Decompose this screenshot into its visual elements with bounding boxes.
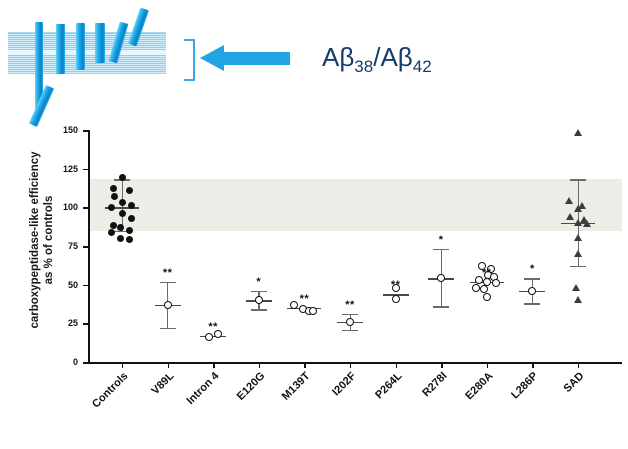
y-axis-tick-label: 150 [56, 125, 78, 135]
significance-marker: ** [382, 279, 410, 291]
x-axis-tick [259, 363, 260, 368]
data-point-filled [119, 210, 126, 217]
y-axis-label: carboxypeptidase-like efficiency as % of… [28, 125, 56, 355]
data-point-triangle [574, 296, 582, 303]
y-axis-tick [83, 169, 88, 171]
data-point-filled [108, 229, 115, 236]
significance-marker: ** [199, 321, 227, 333]
error-bar-cap [251, 309, 267, 310]
x-axis-tick [396, 363, 397, 368]
data-point-filled [111, 193, 118, 200]
data-point-filled [108, 204, 115, 211]
data-point-open [255, 296, 263, 304]
data-point-open [392, 295, 400, 303]
data-point-filled [119, 199, 126, 206]
error-bar-cap [251, 291, 267, 292]
error-bar-cap [524, 278, 540, 279]
y-axis-tick-label: 50 [56, 280, 78, 290]
data-point-triangle [574, 234, 582, 241]
data-point-open [205, 333, 213, 341]
y-axis-tick-label: 75 [56, 241, 78, 251]
data-point-triangle [583, 220, 591, 227]
x-axis-tick [350, 363, 351, 368]
error-bar-cap [524, 303, 540, 304]
data-point-open [309, 307, 317, 315]
x-axis-tick [213, 363, 214, 368]
data-point-filled [117, 224, 124, 231]
x-axis-tick [168, 363, 169, 368]
data-point-filled [126, 187, 133, 194]
y-axis-tick [83, 207, 88, 209]
data-point-filled [119, 174, 126, 181]
significance-marker: * [518, 263, 546, 275]
figure-panel: Aβ38/Aβ42 carboxypeptidase-like efficien… [0, 0, 628, 447]
significance-marker: ** [473, 267, 501, 279]
data-point-filled [128, 202, 135, 209]
y-axis-tick [83, 246, 88, 248]
y-axis-tick-label: 125 [56, 164, 78, 174]
x-axis-tick [487, 363, 488, 368]
y-axis-tick [83, 323, 88, 325]
control-reference-band [88, 179, 622, 230]
error-bar-cap [342, 314, 358, 315]
error-bar-cap [160, 328, 176, 329]
significance-marker: ** [336, 299, 364, 311]
scatter-plot: carboxypeptidase-like efficiency as % of… [0, 0, 628, 447]
data-point-triangle [574, 129, 582, 136]
y-axis-tick-label: 25 [56, 318, 78, 328]
y-axis-tick-label: 0 [56, 357, 78, 367]
data-point-triangle [574, 250, 582, 257]
data-point-triangle [574, 219, 582, 226]
y-axis-label-line2: as % of controls [43, 196, 55, 285]
error-bar-cap [160, 282, 176, 283]
significance-marker: * [245, 276, 273, 288]
x-axis-tick [304, 363, 305, 368]
y-axis-tick [83, 285, 88, 287]
significance-marker: ** [290, 293, 318, 305]
y-axis-line [88, 130, 90, 364]
y-axis-tick [83, 130, 88, 132]
y-axis-tick [83, 362, 88, 364]
data-point-filled [126, 236, 133, 243]
x-axis-tick [578, 363, 579, 368]
group-mean-line [200, 336, 226, 338]
x-axis-tick [532, 363, 533, 368]
data-point-filled [117, 235, 124, 242]
x-axis-label-controls: Controls [51, 370, 130, 449]
data-point-open [483, 293, 491, 301]
data-point-triangle [565, 197, 573, 204]
significance-marker: ** [154, 267, 182, 279]
data-point-open [164, 301, 172, 309]
data-point-triangle [572, 284, 580, 291]
data-point-filled [126, 227, 133, 234]
data-point-open [528, 287, 536, 295]
significance-marker: * [427, 234, 455, 246]
data-point-filled [110, 185, 117, 192]
error-bar-cap [342, 330, 358, 331]
y-axis-label-line1: carboxypeptidase-like efficiency [29, 151, 41, 328]
error-bar-cap [570, 179, 586, 180]
error-bar-cap [433, 249, 449, 250]
data-point-filled [128, 215, 135, 222]
y-axis-tick-label: 100 [56, 202, 78, 212]
x-axis-tick [441, 363, 442, 368]
data-point-open [346, 318, 354, 326]
data-point-triangle [574, 205, 582, 212]
x-axis-tick [122, 363, 123, 368]
error-bar-cap [433, 306, 449, 307]
error-bar-cap [570, 266, 586, 267]
data-point-open [492, 279, 500, 287]
data-point-open [437, 274, 445, 282]
